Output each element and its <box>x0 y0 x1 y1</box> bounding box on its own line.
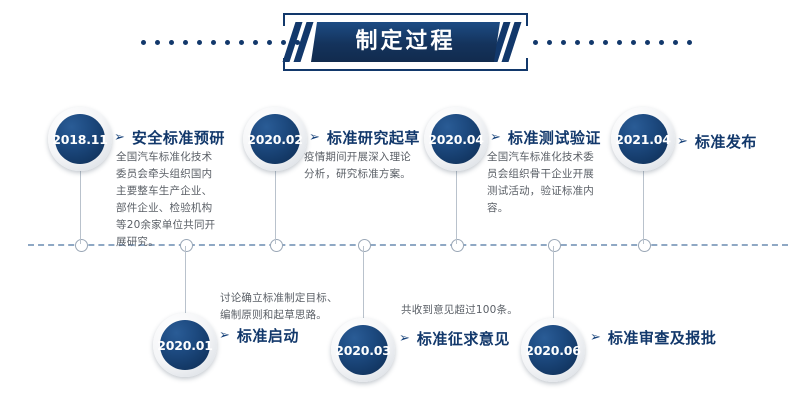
banner-corner-top-left <box>283 13 285 26</box>
infographic-canvas: 制定过程 2018.11 ➢ 安全标准预研 全国汽车标准化技术委员会牵头组织国内… <box>0 0 811 410</box>
arrow-icon: ➢ <box>399 332 410 345</box>
stem-2021-04 <box>643 170 644 244</box>
banner-frame-top <box>283 13 528 15</box>
arrow-icon: ➢ <box>219 329 230 342</box>
milestone-heading-2020-03[interactable]: ➢ 标准征求意见 <box>399 328 510 349</box>
milestone-date: 2020.02 <box>247 132 303 147</box>
milestone-body-2018-11: 全国汽车标准化技术委员会牵头组织国内主要整车生产企业、部件企业、检验机构等20余… <box>116 149 220 251</box>
milestone-heading-2020-01[interactable]: ➢ 标准启动 <box>219 325 299 346</box>
bubble-core: 2020.06 <box>528 325 578 375</box>
milestone-date: 2020.01 <box>157 338 213 353</box>
milestone-title: 安全标准预研 <box>132 127 225 148</box>
arrow-icon: ➢ <box>490 131 501 144</box>
stem-2020-01 <box>185 246 186 318</box>
milestone-date: 2020.03 <box>335 343 391 358</box>
axis-marker-2020-04 <box>451 239 464 252</box>
milestone-bubble-2018-11[interactable]: 2018.11 <box>48 107 112 171</box>
milestone-heading-2020-02[interactable]: ➢ 标准研究起草 <box>309 127 420 148</box>
axis-marker-2021-04 <box>638 239 651 252</box>
axis-marker-2020-06 <box>548 239 561 252</box>
banner-dots-left <box>141 39 300 45</box>
banner-corner-bottom-right <box>526 58 528 71</box>
axis-marker-2020-02 <box>270 239 283 252</box>
page-title: 制定过程 <box>355 31 455 53</box>
stem-2020-06 <box>553 246 554 318</box>
milestone-bubble-2020-01[interactable]: 2020.01 <box>153 313 217 377</box>
milestone-heading-2020-06[interactable]: ➢ 标准审查及报批 <box>590 327 716 348</box>
arrow-icon: ➢ <box>309 131 320 144</box>
bubble-core: 2021.04 <box>618 114 668 164</box>
banner-dots-right <box>533 39 692 45</box>
arrow-icon: ➢ <box>590 331 601 344</box>
milestone-body-2020-01: 讨论确立标准制定目标、编制原则和起草思路。 <box>220 290 342 324</box>
milestone-title: 标准发布 <box>695 131 757 152</box>
milestone-body-2020-03: 共收到意见超过100条。 <box>401 302 541 319</box>
arrow-icon: ➢ <box>114 131 125 144</box>
bubble-core: 2020.02 <box>250 114 300 164</box>
milestone-date: 2020.04 <box>428 132 484 147</box>
milestone-title: 标准测试验证 <box>508 127 601 148</box>
banner-corner-top-right <box>526 13 528 26</box>
stem-2020-04 <box>456 170 457 244</box>
milestone-date: 2021.04 <box>615 132 671 147</box>
milestone-heading-2018-11[interactable]: ➢ 安全标准预研 <box>114 127 225 148</box>
milestone-heading-2020-04[interactable]: ➢ 标准测试验证 <box>490 127 601 148</box>
bubble-core: 2020.04 <box>431 114 481 164</box>
stem-2020-03 <box>363 246 364 318</box>
milestone-body-2020-02: 疫情期间开展深入理论分析，研究标准方案。 <box>304 149 414 183</box>
banner-plate: 制定过程 <box>311 22 500 62</box>
milestone-bubble-2020-04[interactable]: 2020.04 <box>424 107 488 171</box>
title-banner: 制定过程 <box>283 13 528 71</box>
stem-2020-02 <box>275 170 276 244</box>
arrow-icon: ➢ <box>677 135 688 148</box>
milestone-title: 标准征求意见 <box>417 328 510 349</box>
milestone-bubble-2020-02[interactable]: 2020.02 <box>243 107 307 171</box>
milestone-date: 2018.11 <box>52 132 108 147</box>
bubble-core: 2020.03 <box>338 325 388 375</box>
bubble-core: 2018.11 <box>55 114 105 164</box>
milestone-title: 标准审查及报批 <box>608 327 717 348</box>
axis-marker-2020-03 <box>358 239 371 252</box>
axis-marker-2018-11 <box>75 239 88 252</box>
milestone-title: 标准研究起草 <box>327 127 420 148</box>
banner-frame-bottom <box>283 69 528 71</box>
milestone-date: 2020.06 <box>525 343 581 358</box>
milestone-bubble-2020-03[interactable]: 2020.03 <box>331 318 395 382</box>
bubble-core: 2020.01 <box>160 320 210 370</box>
milestone-bubble-2021-04[interactable]: 2021.04 <box>611 107 675 171</box>
milestone-bubble-2020-06[interactable]: 2020.06 <box>521 318 585 382</box>
milestone-title: 标准启动 <box>237 325 299 346</box>
milestone-heading-2021-04[interactable]: ➢ 标准发布 <box>677 131 757 152</box>
stem-2018-11 <box>80 170 81 244</box>
milestone-body-2020-04: 全国汽车标准化技术委员会组织骨干企业开展测试活动，验证标准内容。 <box>487 149 599 217</box>
